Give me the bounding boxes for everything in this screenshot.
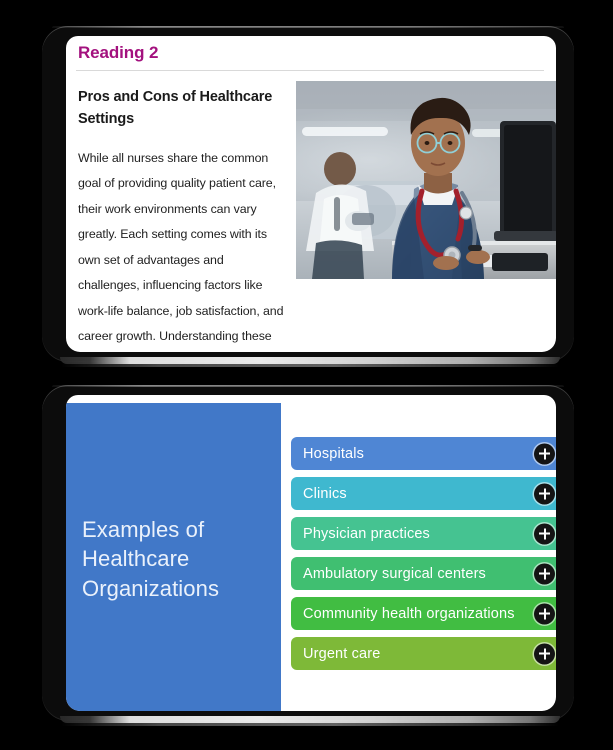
- plus-circle-icon[interactable]: [534, 483, 555, 504]
- plus-circle-icon[interactable]: [534, 443, 555, 464]
- tablet-device-bottom: Examples of Healthcare Organizations Hos…: [42, 385, 574, 721]
- org-list-item-label: Ambulatory surgical centers: [303, 566, 486, 582]
- org-list-item-label: Hospitals: [303, 446, 364, 462]
- slide-reading-2: Reading 2 Pros and Cons of Healthcare Se…: [66, 36, 556, 352]
- plus-circle-icon[interactable]: [534, 603, 555, 624]
- tablet-edge-sheen-bottom: [60, 716, 560, 723]
- tablet-device-top: Reading 2 Pros and Cons of Healthcare Se…: [42, 26, 574, 362]
- org-list-item[interactable]: Ambulatory surgical centers: [291, 557, 556, 590]
- organization-list: HospitalsClinicsPhysician practicesAmbul…: [291, 437, 556, 677]
- org-list-item[interactable]: Hospitals: [291, 437, 556, 470]
- slide-examples: Examples of Healthcare Organizations Hos…: [66, 395, 556, 711]
- org-list-item[interactable]: Physician practices: [291, 517, 556, 550]
- org-list-item[interactable]: Clinics: [291, 477, 556, 510]
- org-list-item-label: Physician practices: [303, 526, 430, 542]
- body-paragraph: While all nurses share the common goal o…: [78, 146, 556, 352]
- header-divider: [76, 70, 544, 71]
- panel-title: Examples of Healthcare Organizations: [82, 515, 272, 603]
- page-title: Pros and Cons of Healthcare Settings: [78, 86, 293, 131]
- photo-text-wrap-spacer: [286, 146, 556, 344]
- org-list-item-label: Urgent care: [303, 646, 380, 662]
- plus-circle-icon[interactable]: [534, 563, 555, 584]
- tablet-edge-sheen-top: [60, 357, 560, 364]
- org-list-item-label: Clinics: [303, 486, 347, 502]
- org-list-item[interactable]: Community health organizations: [291, 597, 556, 630]
- plus-circle-icon[interactable]: [534, 643, 555, 664]
- reading-eyebrow: Reading 2: [78, 43, 158, 63]
- screenshot-stage: Reading 2 Pros and Cons of Healthcare Se…: [0, 0, 613, 750]
- org-list-item[interactable]: Urgent care: [291, 637, 556, 670]
- org-list-item-label: Community health organizations: [303, 606, 515, 622]
- left-color-panel: Examples of Healthcare Organizations: [66, 403, 281, 711]
- plus-circle-icon[interactable]: [534, 523, 555, 544]
